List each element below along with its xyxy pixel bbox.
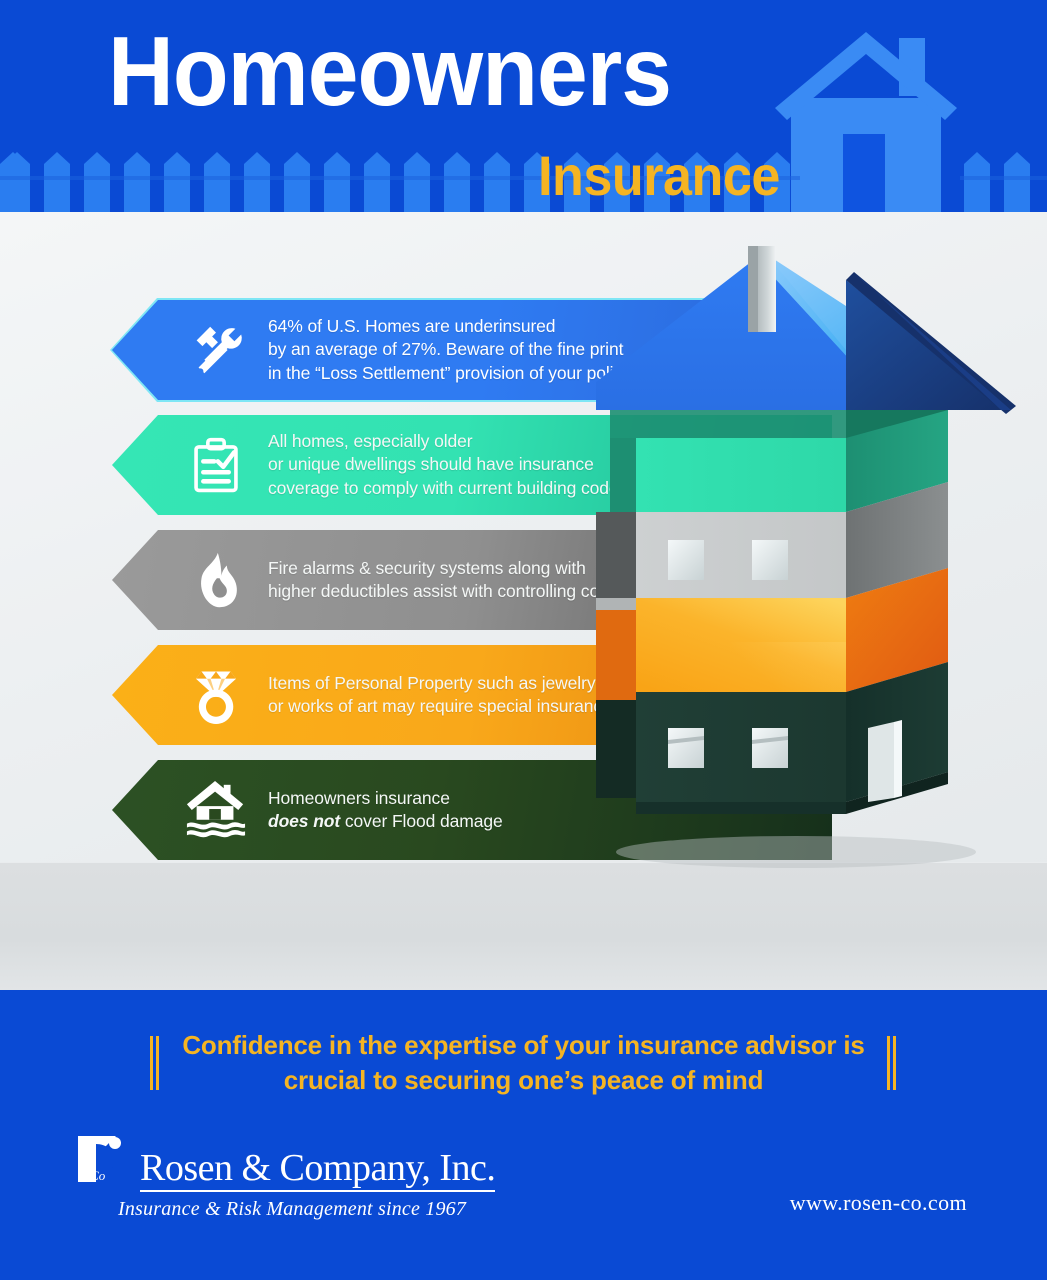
flame-icon — [170, 541, 262, 619]
main-stage: 64% of U.S. Homes are underinsured by an… — [0, 212, 1047, 990]
fact-text: Fire alarms & security systems along wit… — [268, 557, 613, 604]
house-flood-icon — [170, 771, 262, 849]
footer-quote-block: Confidence in the expertise of your insu… — [0, 1028, 1047, 1098]
footer-banner: Confidence in the expertise of your insu… — [0, 990, 1047, 1280]
page-title: Homeowners — [108, 22, 671, 120]
header-banner: Homeowners Insurance — [0, 0, 1047, 212]
hammer-wrench-icon — [170, 311, 262, 389]
company-tagline: Insurance & Risk Management since 1967 — [118, 1198, 492, 1221]
diamond-ring-icon — [170, 656, 262, 734]
fact-text: All homes, especially older or unique dw… — [268, 430, 627, 500]
clipboard-checklist-icon — [170, 426, 262, 504]
infographic-poster: Homeowners Insurance 64% of U.S. Homes a… — [0, 0, 1047, 1280]
svg-text:&Co: &Co — [80, 1168, 106, 1183]
fact-text: Items of Personal Property such as jewel… — [268, 672, 612, 719]
page-subtitle: Insurance — [538, 148, 780, 204]
company-logo[interactable]: &Co Rosen & Company, Inc. Insurance & Ri… — [72, 1130, 492, 1221]
fact-text: Homeowners insurance does not cover Floo… — [268, 787, 503, 834]
fact-text: 64% of U.S. Homes are underinsured by an… — [268, 315, 631, 385]
footer-quote-text: Confidence in the expertise of your insu… — [182, 1028, 864, 1098]
company-name: Rosen & Company, Inc. — [140, 1149, 495, 1192]
layered-3d-house-illustration — [596, 242, 1016, 882]
fence-icon — [0, 150, 1047, 212]
quote-bars-right-icon — [887, 1036, 897, 1090]
website-url[interactable]: www.rosen-co.com — [790, 1190, 967, 1216]
rosen-monogram-icon: &Co — [72, 1130, 134, 1192]
quote-bars-left-icon — [150, 1036, 160, 1090]
